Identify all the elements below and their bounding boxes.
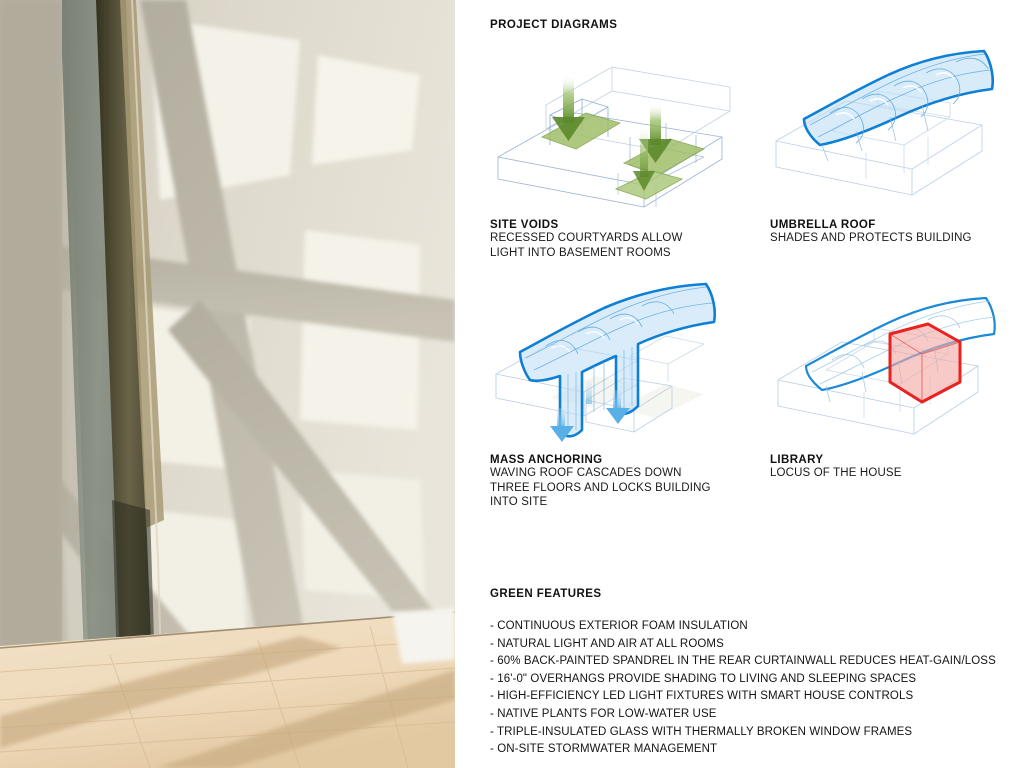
green-features-section: GREEN FEATURES - CONTINUOUS EXTERIOR FOA… bbox=[490, 588, 1010, 759]
library-volume bbox=[890, 324, 960, 402]
diagram-desc-line: LOCUS OF THE HOUSE bbox=[770, 466, 1015, 481]
list-item: - CONTINUOUS EXTERIOR FOAM INSULATION bbox=[490, 618, 1010, 636]
library-figure bbox=[770, 280, 1015, 452]
diagram-site-voids: SITE VOIDS RECESSED COURTYARDS ALLOW LIG… bbox=[490, 45, 735, 260]
page-title: PROJECT DIAGRAMS bbox=[490, 19, 617, 31]
diagram-desc-line: WAVING ROOF CASCADES DOWN bbox=[490, 466, 735, 481]
list-item: - 60% BACK-PAINTED SPANDREL IN THE REAR … bbox=[490, 653, 1010, 671]
mass-anchoring-figure bbox=[490, 280, 735, 452]
diagram-mass-anchoring: MASS ANCHORING WAVING ROOF CASCADES DOWN… bbox=[490, 280, 735, 510]
diagram-title: MASS ANCHORING bbox=[490, 454, 735, 466]
diagram-library: LIBRARY LOCUS OF THE HOUSE bbox=[770, 280, 1015, 510]
diagram-umbrella-roof: UMBRELLA ROOF SHADES AND PROTECTS BUILDI… bbox=[770, 45, 1015, 260]
diagram-desc-line: INTO SITE bbox=[490, 495, 735, 510]
site-voids-figure bbox=[490, 45, 735, 217]
list-item: - TRIPLE-INSULATED GLASS WITH THERMALLY … bbox=[490, 724, 1010, 742]
green-features-title: GREEN FEATURES bbox=[490, 588, 1010, 600]
diagram-desc-line: SHADES AND PROTECTS BUILDING bbox=[770, 231, 1015, 246]
diagram-title: UMBRELLA ROOF bbox=[770, 219, 1015, 231]
green-features-list: - CONTINUOUS EXTERIOR FOAM INSULATION - … bbox=[490, 618, 1010, 759]
list-item: - NATURAL LIGHT AND AIR AT ALL ROOMS bbox=[490, 636, 1010, 654]
list-item: - 16'-0" OVERHANGS PROVIDE SHADING TO LI… bbox=[490, 671, 1010, 689]
diagram-desc-line: LIGHT INTO BASEMENT ROOMS bbox=[490, 246, 735, 261]
list-item: - ON-SITE STORMWATER MANAGEMENT bbox=[490, 741, 1010, 759]
info-panel: PROJECT DIAGRAMS bbox=[455, 0, 1024, 768]
umbrella-roof-figure bbox=[770, 45, 1015, 217]
diagram-grid: SITE VOIDS RECESSED COURTYARDS ALLOW LIG… bbox=[455, 45, 1024, 514]
list-item: - NATIVE PLANTS FOR LOW-WATER USE bbox=[490, 706, 1010, 724]
diagram-desc-line: THREE FLOORS AND LOCKS BUILDING bbox=[490, 481, 735, 496]
project-photograph bbox=[0, 0, 455, 768]
diagram-title: LIBRARY bbox=[770, 454, 1015, 466]
presentation-board: PROJECT DIAGRAMS bbox=[0, 0, 1024, 768]
diagram-desc-line: RECESSED COURTYARDS ALLOW bbox=[490, 231, 735, 246]
diagram-title: SITE VOIDS bbox=[490, 219, 735, 231]
list-item: - HIGH-EFFICIENCY LED LIGHT FIXTURES WIT… bbox=[490, 688, 1010, 706]
